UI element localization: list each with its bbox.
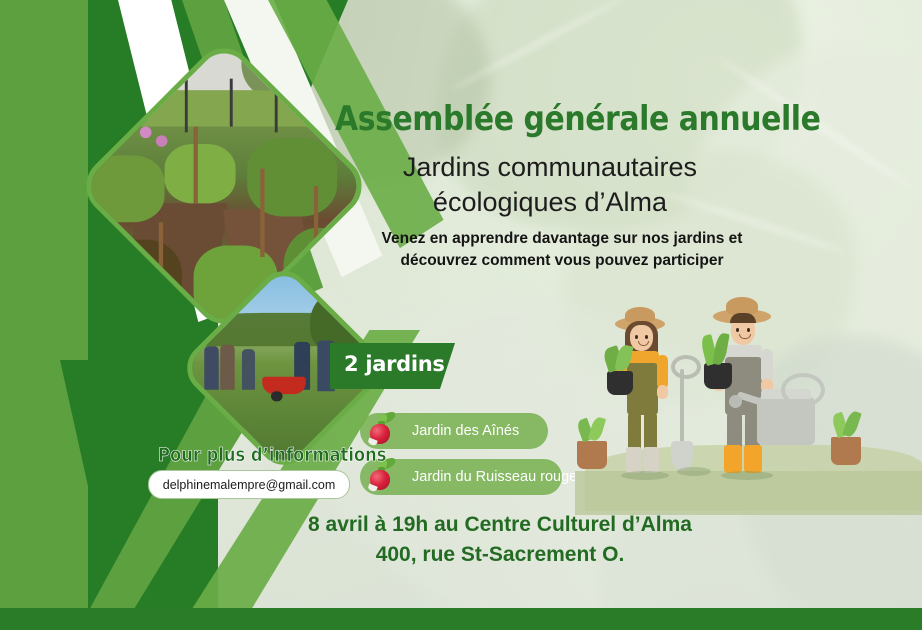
tagline-line-1: Venez en apprendre davantage sur nos jar… bbox=[352, 228, 772, 250]
subtitle-line-1: Jardins communautaires bbox=[330, 150, 770, 185]
garden-name-label: Jardin du Ruisseau rouge bbox=[412, 469, 577, 485]
garden-name-label: Jardin des Aînés bbox=[412, 423, 519, 439]
contact-email-label: delphinemalempre@gmail.com bbox=[163, 478, 336, 492]
gardens-count-label: 2 jardins bbox=[344, 352, 445, 376]
garden-item-aines[interactable]: Jardin des Aînés bbox=[360, 413, 548, 449]
garden-item-ruisseau-rouge[interactable]: Jardin du Ruisseau rouge bbox=[360, 459, 562, 495]
subtitle-line-2: écologiques d’Alma bbox=[330, 185, 770, 220]
poster-canvas: Assemblée générale annuelle Jardins comm… bbox=[0, 0, 922, 630]
two-gardeners-illustration bbox=[585, 295, 922, 525]
poster-tagline: Venez en apprendre davantage sur nos jar… bbox=[352, 228, 772, 273]
contact-heading: Pour plus d’informations bbox=[158, 444, 387, 466]
poster-title: Assemblée générale annuelle bbox=[335, 102, 705, 136]
bottom-green-bar bbox=[0, 608, 922, 630]
tagline-line-2: découvrez comment vous pouvez participer bbox=[352, 250, 772, 272]
gardens-count-banner: 2 jardins bbox=[330, 343, 455, 389]
event-line-2: 400, rue St-Sacrement O. bbox=[250, 540, 750, 570]
poster-subtitle: Jardins communautaires écologiques d’Alm… bbox=[330, 150, 770, 219]
contact-email-pill[interactable]: delphinemalempre@gmail.com bbox=[148, 470, 350, 499]
